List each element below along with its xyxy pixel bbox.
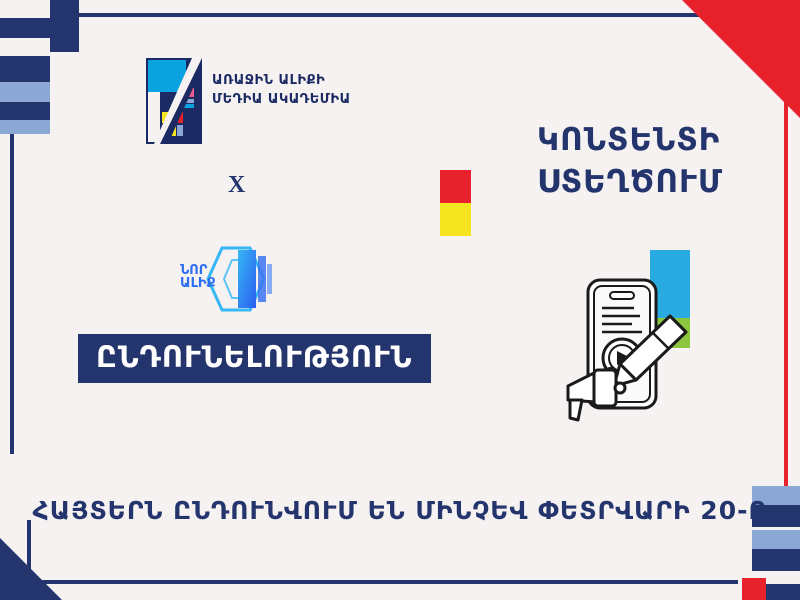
deadline-text: ՀԱՅՏԵՐՆ ԸՆԴՈՒՆՎՈՒՄ ԵՆ ՄԻՆՉԵՎ ՓԵՏՐՎԱՐԻ 20… <box>0 496 800 525</box>
red-corner-triangle <box>682 0 800 118</box>
logo-line-2: ՄԵԴԻԱ ԱԿԱԴԵՄԻԱ <box>212 91 351 110</box>
nor-aliq-mark: ՆՈՐ ԱԼԻՔ <box>176 246 276 312</box>
nor-aliq-wordmark: ՆՈՐ ԱԼԻՔ <box>180 264 216 290</box>
collaboration-x-symbol: X <box>228 172 245 199</box>
admission-banner-label: ԸՆԴՈՒՆԵԼՈՒԹՅՈՒՆ <box>96 343 413 372</box>
decor-bar-top-3 <box>0 82 50 102</box>
bottom-horizontal-rule <box>38 580 738 584</box>
logo-line-1: ԱՌԱՋԻՆ ԱԼԻՔԻ <box>212 72 351 91</box>
decor-bar-bottom-5 <box>766 584 800 600</box>
promotional-poster: ԱՌԱՋԻՆ ԱԼԻՔԻ ՄԵԴԻԱ ԱԿԱԴԵՄԻԱ X ՆՈՐ ԱԼԻՔ Կ… <box>0 0 800 600</box>
admission-banner: ԸՆԴՈՒՆԵԼՈՒԹՅՈՒՆ <box>78 334 431 383</box>
yellow-square-center <box>440 203 471 236</box>
decor-bar-bottom-3 <box>752 530 800 549</box>
top-horizontal-rule <box>60 13 750 17</box>
speaker-icon <box>610 292 634 299</box>
content-creation-illustration <box>552 250 724 422</box>
headline: ԿՈՆՏԵՆՏԻ ՍՏԵՂԾՈՒՄ <box>537 120 787 204</box>
left-vertical-rule <box>10 134 14 454</box>
logo2-line-2: ԱԼԻՔ <box>180 277 216 290</box>
one-numeral-icon <box>146 58 202 144</box>
megaphone-icon <box>568 368 625 420</box>
red-square-center <box>440 170 471 203</box>
decor-vertical-block-top-left <box>50 0 79 52</box>
navy-corner-triangle <box>0 538 62 600</box>
decor-bar-bottom-4 <box>752 549 800 571</box>
decor-bar-top-2 <box>0 56 50 82</box>
decor-bar-top-4 <box>0 102 50 120</box>
decor-bar-top-5 <box>0 120 50 134</box>
headline-line-1: ԿՈՆՏԵՆՏԻ <box>537 120 787 162</box>
decor-bar-top-1 <box>0 18 50 38</box>
first-channel-one-mark <box>146 58 202 144</box>
headline-line-2: ՍՏԵՂԾՈՒՄ <box>537 162 787 204</box>
first-channel-one-wordmark: ԱՌԱՋԻՆ ԱԼԻՔԻ ՄԵԴԻԱ ԱԿԱԴԵՄԻԱ <box>212 72 351 110</box>
bottom-left-vertical-rule <box>27 520 31 600</box>
red-square-bottom-right <box>742 578 766 600</box>
